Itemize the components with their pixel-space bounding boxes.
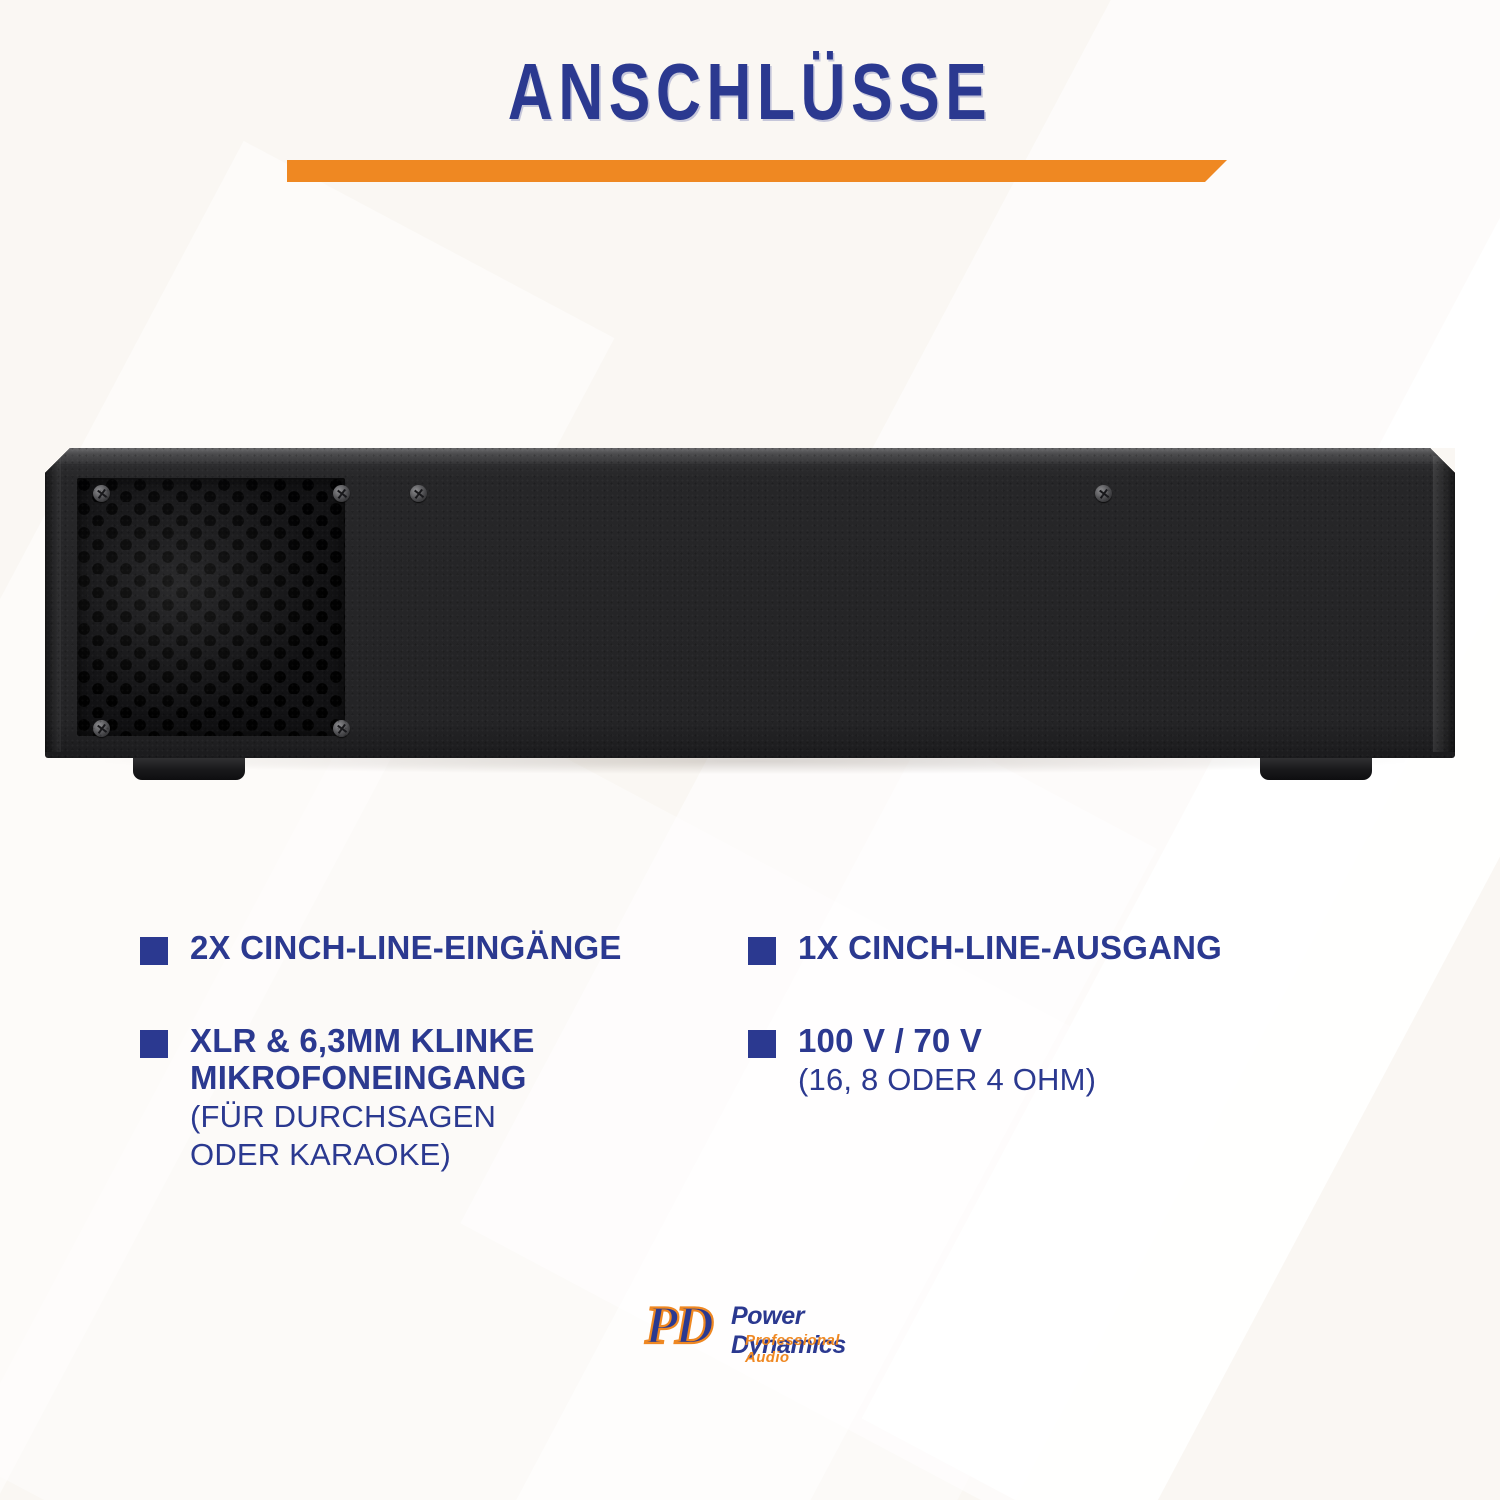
feature-main-text: XLR & 6,3MM KLINKE MIKROFONEINGANG (190, 1023, 535, 1097)
bullet-square-icon (748, 937, 776, 965)
page-header: ANSCHLÜSSE (0, 52, 1500, 132)
feature-column-left: 2X CINCH-LINE-EINGÄNGE XLR & 6,3MM KLINK… (140, 930, 760, 1230)
feature-item: 1X CINCH-LINE-AUSGANG (748, 930, 1368, 967)
amplifier-chassis (45, 448, 1455, 758)
feature-sub-text: (16, 8 ODER 4 OHM) (798, 1062, 1096, 1099)
logo-tagline: Professional Audio (745, 1332, 875, 1366)
logo-monogram: PD (645, 1298, 711, 1352)
chassis-screw (333, 485, 350, 502)
feature-item: 2X CINCH-LINE-EINGÄNGE (140, 930, 760, 967)
feature-column-right: 1X CINCH-LINE-AUSGANG 100 V / 70 V (16, … (748, 930, 1368, 1154)
bullet-square-icon (140, 1030, 168, 1058)
fan-grille-icon (77, 478, 345, 736)
brand-logo: PD Power Dynamics Professional Audio (645, 1296, 875, 1362)
feature-item: XLR & 6,3MM KLINKE MIKROFONEINGANG (FÜR … (140, 1023, 760, 1174)
product-rear-panel-photo (45, 448, 1455, 793)
chassis-screw (93, 720, 110, 737)
chassis-screw (410, 485, 427, 502)
title-underline-bar (287, 160, 1227, 182)
feature-sub-text: (FÜR DURCHSAGEN (190, 1099, 535, 1136)
page-title: ANSCHLÜSSE (165, 52, 1335, 132)
chassis-screw (333, 720, 350, 737)
feature-main-text: 2X CINCH-LINE-EINGÄNGE (190, 930, 622, 967)
feature-main-text: 1X CINCH-LINE-AUSGANG (798, 930, 1222, 967)
feature-item: 100 V / 70 V (16, 8 ODER 4 OHM) (748, 1023, 1368, 1099)
feature-main-text: 100 V / 70 V (798, 1023, 1096, 1060)
chassis-screw (93, 485, 110, 502)
chassis-screw (1095, 485, 1112, 502)
bullet-square-icon (748, 1030, 776, 1058)
feature-sub-text: ODER KARAOKE) (190, 1137, 535, 1174)
bullet-square-icon (140, 937, 168, 965)
